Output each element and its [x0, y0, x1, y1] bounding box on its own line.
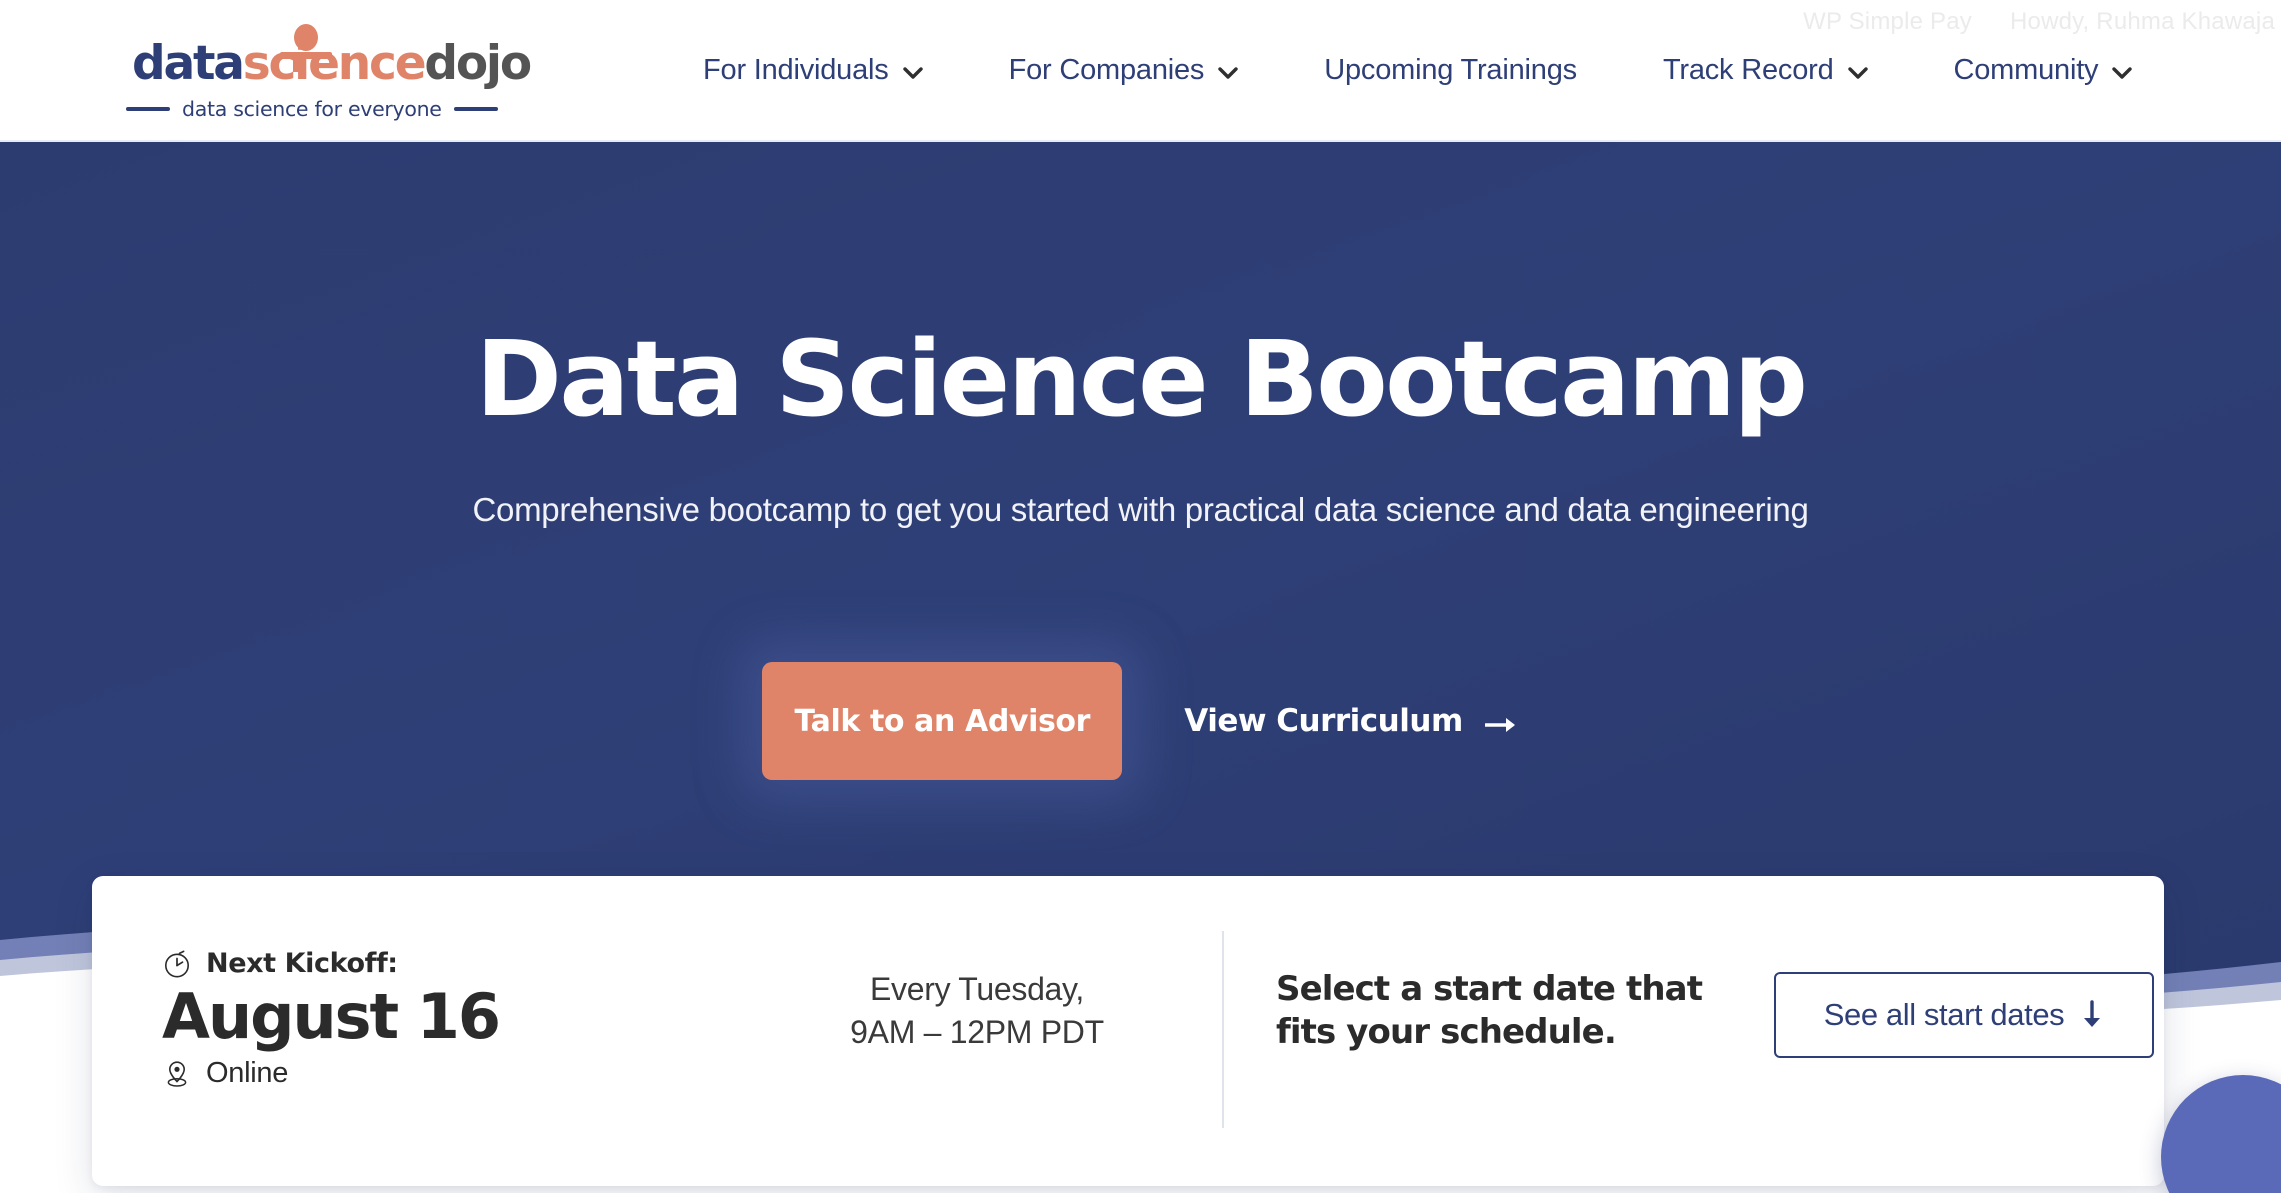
kickoff-label-row: Next Kickoff:: [162, 948, 732, 979]
nav-item-upcoming-trainings[interactable]: Upcoming Trainings: [1281, 0, 1620, 140]
see-all-start-dates-label: See all start dates: [1824, 997, 2065, 1033]
main-navigation: For Individuals For Companies Upcoming T…: [660, 0, 2175, 140]
logo-text-data: data: [132, 36, 243, 91]
schedule-line-2: 9AM – 12PM PDT: [732, 1011, 1222, 1054]
kickoff-column: Next Kickoff: August 16 Online: [92, 876, 732, 1186]
select-date-line-2: fits your schedule.: [1276, 1011, 1744, 1054]
next-kickoff-card: Next Kickoff: August 16 Online Every Tue…: [92, 876, 2164, 1186]
select-date-column: Select a start date that fits your sched…: [1224, 876, 1744, 1186]
location-pin-icon: [162, 1059, 192, 1089]
page-root: WP Simple Pay Howdy, Ruhma Khawaja datas…: [0, 0, 2281, 1193]
logo-tagline: data science for everyone: [182, 97, 442, 121]
arrow-down-icon: [2080, 1000, 2104, 1030]
logo-wordmark: datasciencedojo: [132, 40, 544, 87]
nav-item-for-individuals[interactable]: For Individuals: [660, 0, 966, 140]
kickoff-mode-row: Online: [162, 1057, 732, 1090]
hero-cta-row: Talk to an Advisor View Curriculum: [0, 662, 2281, 780]
page-title: Data Science Bootcamp: [0, 327, 2281, 431]
schedule-column: Every Tuesday, 9AM – 12PM PDT: [732, 876, 1222, 1186]
kickoff-date: August 16: [162, 983, 732, 1051]
chat-launcher-button[interactable]: [2161, 1075, 2281, 1193]
nav-item-for-companies[interactable]: For Companies: [966, 0, 1282, 140]
see-all-start-dates-button[interactable]: See all start dates: [1774, 972, 2154, 1058]
view-curriculum-button[interactable]: View Curriculum: [1184, 703, 1519, 739]
tagline-dash-left-icon: [126, 107, 170, 111]
nav-label-track-record: Track Record: [1663, 54, 1834, 87]
nav-label-community: Community: [1954, 54, 2099, 87]
schedule-line-1: Every Tuesday,: [732, 968, 1222, 1011]
chevron-down-icon: [1218, 67, 1238, 79]
hero-subtitle: Comprehensive bootcamp to get you starte…: [0, 491, 2281, 529]
logo-text-science: science: [243, 36, 425, 91]
logo-text-dojo: dojo: [424, 36, 530, 91]
arrow-right-icon: [1485, 709, 1519, 733]
torii-gate-icon: [280, 24, 332, 70]
start-dates-column: See all start dates: [1744, 876, 2164, 1186]
chevron-down-icon: [1848, 67, 1868, 79]
site-header: datasciencedojo data science for everyon…: [0, 0, 2281, 142]
clock-icon: [162, 949, 192, 979]
tagline-dash-right-icon: [454, 107, 498, 111]
select-date-line-1: Select a start date that: [1276, 968, 1744, 1011]
site-logo[interactable]: datasciencedojo data science for everyon…: [132, 18, 544, 118]
kickoff-mode-label: Online: [206, 1057, 288, 1090]
view-curriculum-label: View Curriculum: [1184, 703, 1463, 739]
nav-item-track-record[interactable]: Track Record: [1620, 0, 1911, 140]
nav-item-community[interactable]: Community: [1911, 0, 2176, 140]
nav-label-upcoming-trainings: Upcoming Trainings: [1324, 54, 1577, 87]
nav-label-for-companies: For Companies: [1009, 54, 1205, 87]
talk-to-advisor-button[interactable]: Talk to an Advisor: [762, 662, 1122, 780]
chevron-down-icon: [2112, 67, 2132, 79]
nav-label-for-individuals: For Individuals: [703, 54, 889, 87]
logo-tagline-row: data science for everyone: [126, 97, 546, 121]
chevron-down-icon: [903, 67, 923, 79]
kickoff-label: Next Kickoff:: [206, 948, 398, 979]
